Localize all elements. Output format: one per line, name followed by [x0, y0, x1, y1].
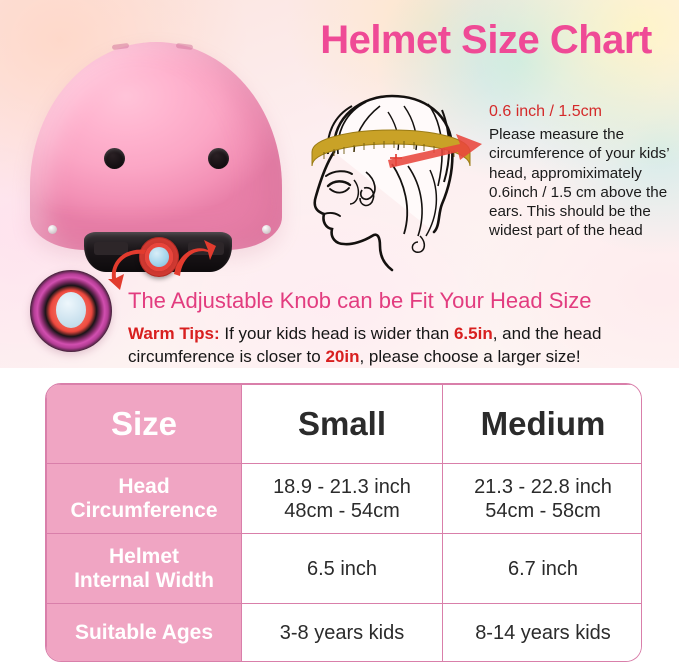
cell-medium-suitable-ages: 8-14 years kids [443, 604, 643, 663]
row-label-line1: Helmet [109, 545, 179, 568]
row-label-suitable-ages: Suitable Ages [47, 604, 242, 663]
cell-small-helmet-internal-width: 6.5 inch [242, 534, 443, 604]
measure-callout: 0.6 inch / 1.5cm Please measure the circ… [489, 102, 674, 241]
table-row-head-circumference: Head Circumference 18.9 - 21.3 inch 48cm… [47, 464, 643, 534]
table-row-helmet-internal-width: Helmet Internal Width 6.5 inch 6.7 inch [47, 534, 643, 604]
warm-tips-part1: If your kids head is wider than [220, 324, 454, 343]
cell-medium-head-circumference: 21.3 - 22.8 inch 54cm - 58cm [443, 464, 643, 534]
row-label-head-circumference: Head Circumference [47, 464, 242, 534]
cell-small-head-circumference: 18.9 - 21.3 inch 48cm - 54cm [242, 464, 443, 534]
helmet-strap-rivet [262, 225, 271, 234]
helmet-vent-hole-icon [208, 148, 229, 169]
warm-tips-label: Warm Tips: [128, 324, 220, 343]
measure-instructions: Please measure the circumference of your… [489, 125, 674, 241]
cell-small-suitable-ages: 3-8 years kids [242, 604, 443, 663]
page-title: Helmet Size Chart [300, 18, 672, 63]
table-header-row: Size Small Medium [47, 385, 643, 464]
warm-tips: Warm Tips: If your kids head is wider th… [128, 323, 668, 368]
row-label-line2: Internal Width [74, 569, 214, 592]
warm-tips-part3: , please choose a larger size! [359, 347, 580, 366]
row-label-helmet-internal-width: Helmet Internal Width [47, 534, 242, 604]
cell-line1: 21.3 - 22.8 inch [474, 476, 612, 498]
measure-headline: 0.6 inch / 1.5cm [489, 102, 674, 122]
table-header-size: Size [47, 385, 242, 464]
head-measurement-diagram [292, 86, 490, 276]
helmet-photo [12, 20, 312, 280]
helmet-vent-hole-icon [104, 148, 125, 169]
cell-line2: 48cm - 54cm [284, 500, 400, 522]
table-row-suitable-ages: Suitable Ages 3-8 years kids 8-14 years … [47, 604, 643, 663]
size-chart-table: Size Small Medium Head Circumference 18.… [45, 383, 642, 662]
table-header-small: Small [242, 385, 443, 464]
table-header-medium: Medium [443, 385, 643, 464]
warm-tips-circumference-value: 20in [325, 347, 359, 366]
helmet-strap-rivet [48, 225, 57, 234]
rotate-right-arrow-icon [170, 234, 216, 280]
row-label-line2: Circumference [70, 499, 217, 522]
knob-closeup-image [30, 270, 112, 352]
warm-tips-width-value: 6.5in [454, 324, 493, 343]
cell-medium-helmet-internal-width: 6.7 inch [443, 534, 643, 604]
knob-tagline: The Adjustable Knob can be Fit Your Head… [128, 288, 668, 314]
cell-line2: 54cm - 58cm [485, 500, 601, 522]
row-label-line1: Head [118, 475, 169, 498]
cell-line1: 18.9 - 21.3 inch [273, 476, 411, 498]
helmet-shell [30, 42, 282, 250]
